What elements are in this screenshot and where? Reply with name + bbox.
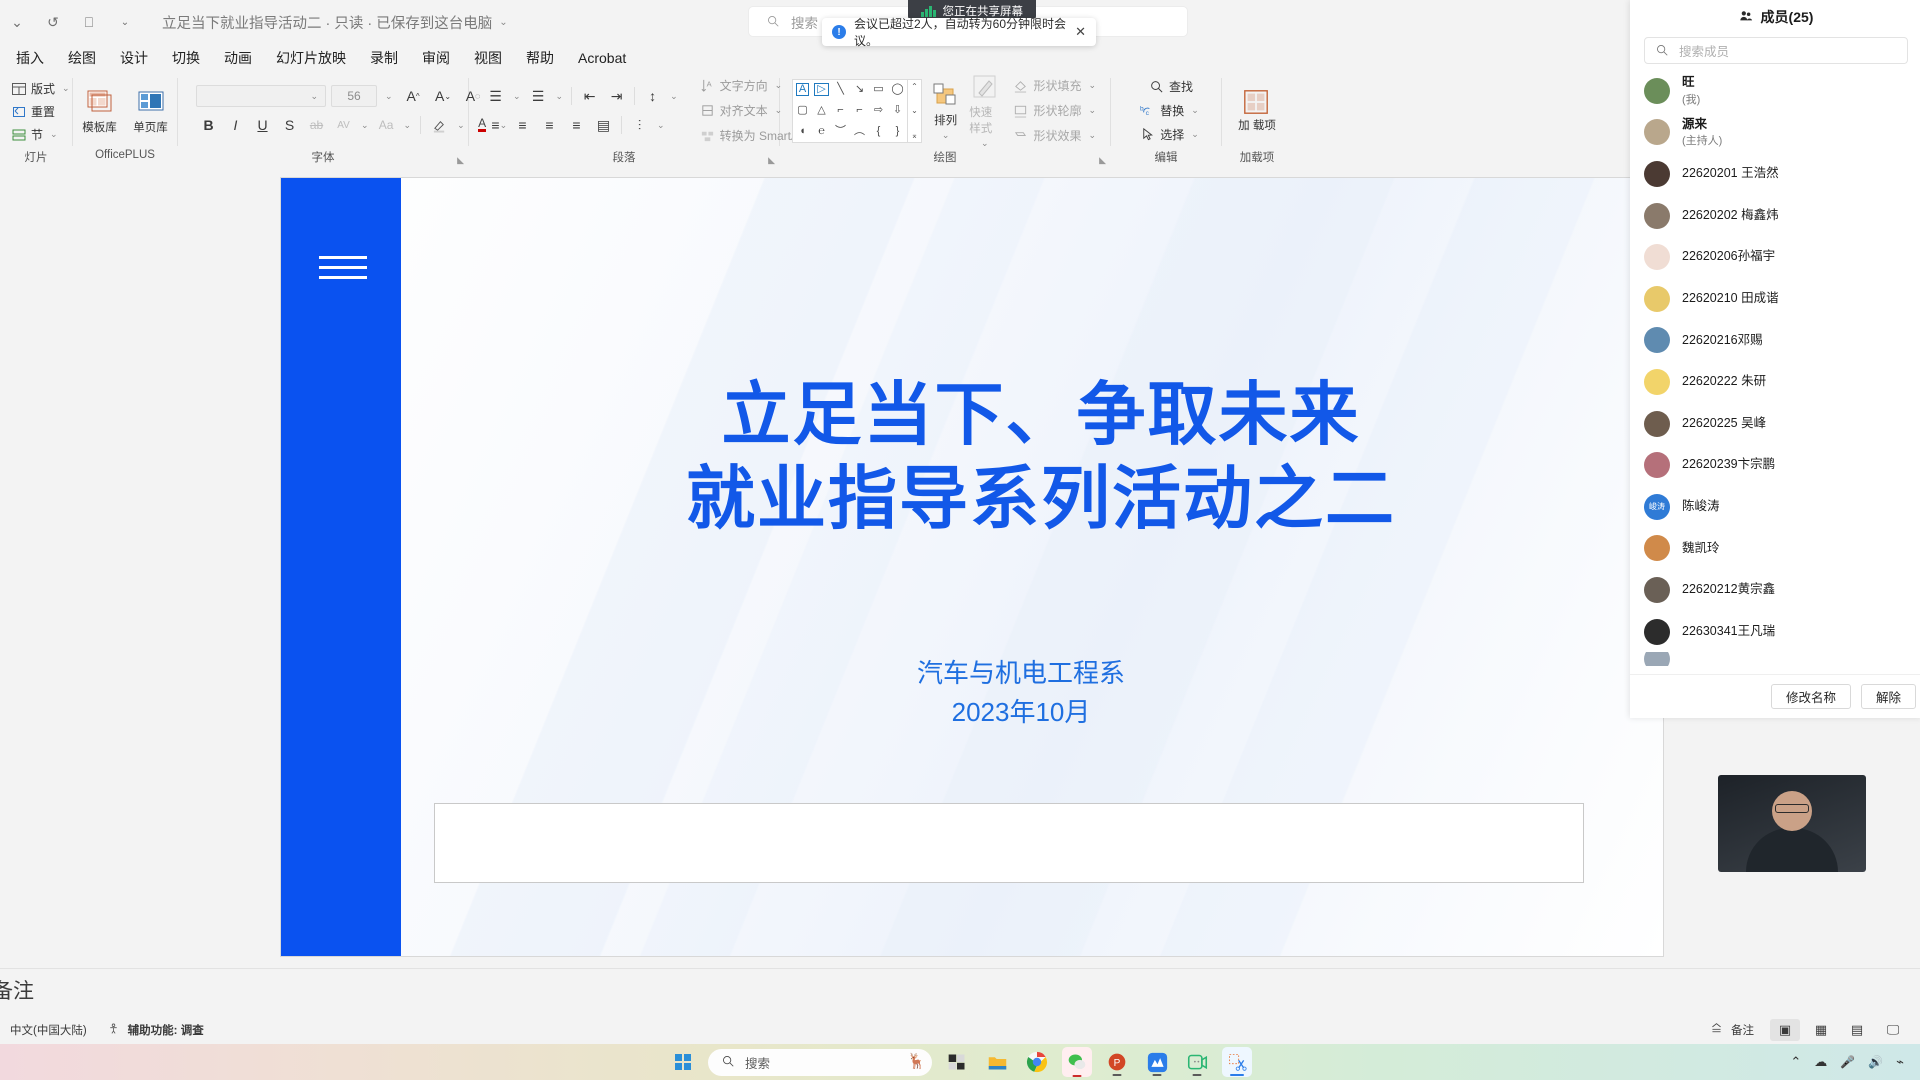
taskbar-center: 搜索 🦌 P — [668, 1047, 1252, 1077]
chevron-down-icon[interactable]: ⌄ — [1188, 105, 1202, 116]
volume-icon[interactable]: 🔊 — [1868, 1055, 1883, 1069]
info-icon: ! — [832, 25, 846, 39]
replace-label: 替换 — [1160, 102, 1184, 119]
list-item[interactable]: 旺 (我) — [1644, 70, 1920, 112]
chevron-down-icon[interactable]: ⌄ — [510, 91, 524, 102]
chrome-icon[interactable] — [1022, 1047, 1052, 1077]
ribbon-group-slide: 版式 ⌄ 重置 节 ⌄ 灯片 — [0, 72, 72, 168]
find-button[interactable]: 查找 — [1144, 76, 1198, 97]
shape-down-arrow-icon[interactable]: ⇩ — [893, 105, 902, 116]
avatar — [1644, 119, 1670, 145]
section-button[interactable]: 节 ⌄ — [6, 124, 66, 145]
slide-accent-bar — [281, 178, 401, 956]
meitu-icon[interactable] — [1142, 1047, 1172, 1077]
tab-design[interactable]: 设计 — [108, 45, 160, 71]
list-item[interactable]: 22620206孙福宇 — [1644, 236, 1920, 278]
participant-name: 魏凯玲 — [1682, 541, 1720, 557]
align-text-icon — [700, 103, 716, 119]
avatar — [1644, 411, 1670, 437]
chevron-down-icon[interactable]: ⌄ — [1085, 80, 1099, 91]
chevron-down-icon[interactable]: ⌄ — [307, 91, 321, 102]
quick-styles-icon — [970, 72, 1000, 102]
smartart-icon — [700, 128, 716, 144]
scroll-up-icon[interactable]: ⌃ — [911, 82, 918, 91]
avatar — [1644, 619, 1670, 645]
tab-transitions[interactable]: 切换 — [160, 45, 212, 71]
list-item[interactable]: 22620201 王浩然 — [1644, 153, 1920, 195]
tab-review[interactable]: 审阅 — [410, 45, 462, 71]
slide-sorter-view-button[interactable]: ▦ — [1806, 1019, 1836, 1041]
ribbon-group-addins: 加 载项 加载项 — [1222, 72, 1292, 168]
ribbon-group-drawing: A ▷ ╲ ↘ ▭ ◯ ▢ △ ⌐ ⌐ ⇨ ⇩ ◖ ℮ ︶ — [780, 72, 1110, 168]
list-item[interactable]: 22620210 田成谐 — [1644, 278, 1920, 320]
people-icon — [1739, 9, 1755, 25]
ribbon-group-editing: 查找 bc 替换 ⌄ 选择 ⌄ 编辑 — [1111, 72, 1221, 168]
shape-arrow-label-icon[interactable]: ▷ — [814, 83, 828, 96]
template-library-button[interactable]: 模板库 — [79, 87, 120, 135]
chevron-down-icon[interactable]: ⌄ — [978, 138, 992, 149]
participant-name: 22630341王凡瑞 — [1682, 624, 1775, 640]
start-icon[interactable] — [668, 1047, 698, 1077]
widget-animal-icon[interactable]: 🦌 — [907, 1052, 926, 1070]
network-icon[interactable]: ⌁ — [1896, 1054, 1904, 1070]
paragraph-dialog-launcher[interactable]: ◣ — [768, 155, 775, 166]
participant-name: 22620225 吴峰 — [1682, 416, 1766, 432]
list-item[interactable]: 22620225 吴峰 — [1644, 403, 1920, 445]
glasses-icon — [1775, 804, 1809, 813]
participant-name: 22620210 田成谐 — [1682, 291, 1779, 307]
layout-label: 版式 — [31, 80, 55, 97]
list-item[interactable]: 22620216邓赐 — [1644, 320, 1920, 362]
customize-qat-icon[interactable]: ⌄ — [114, 11, 136, 33]
notes-pane[interactable]: 备注 — [0, 968, 1920, 1016]
list-item[interactable]: 22630341王凡瑞 — [1644, 611, 1920, 653]
group-label-addins: 加载项 — [1228, 149, 1286, 168]
avatar — [1644, 161, 1670, 187]
meeting-search-placeholder: 搜索 — [791, 12, 818, 32]
chevron-down-icon[interactable]: ⌄ — [654, 120, 668, 131]
addins-button-label: 加 载项 — [1238, 120, 1276, 133]
avatar — [1644, 78, 1670, 104]
participants-search-input[interactable]: 搜索成员 — [1644, 37, 1908, 64]
list-item[interactable]: 22620212黄宗鑫 — [1644, 569, 1920, 611]
show-hidden-icons-icon[interactable]: ⌃ — [1790, 1054, 1801, 1070]
slide-background: 立足当下、争取未来 就业指导系列活动之二 汽车与机电工程系 2023年10月 — [281, 178, 1663, 956]
chevron-down-icon[interactable]: ⌄ — [553, 91, 567, 102]
line-spacing-icon[interactable]: ↕ — [640, 84, 665, 108]
font-size-value: 56 — [347, 89, 360, 103]
search-icon — [721, 1054, 737, 1070]
tencent-meeting-icon[interactable] — [1182, 1047, 1212, 1077]
font-name-input[interactable]: ⌄ — [196, 85, 326, 107]
chevron-down-icon[interactable]: ⌄ — [59, 83, 73, 94]
list-item[interactable]: 魏凯玲 — [1644, 528, 1920, 570]
participants-footer: 修改名称 解除 — [1630, 674, 1920, 718]
participant-name: 22620202 梅鑫炜 — [1682, 208, 1779, 224]
tab-slideshow[interactable]: 幻灯片放映 — [264, 45, 358, 71]
single-page-library-button[interactable]: 单页库 — [130, 87, 171, 135]
list-item[interactable]: 峻涛 陈峻涛 — [1644, 486, 1920, 528]
microphone-icon[interactable]: 🎤 — [1840, 1055, 1855, 1069]
template-library-label: 模板库 — [82, 119, 117, 135]
select-button[interactable]: 选择 ⌄ — [1135, 124, 1207, 145]
shapes-scrollbar[interactable]: ⌃ ⌄ ⌅ — [908, 79, 922, 143]
document-title[interactable]: 立足当下就业指导活动二 · 只读 · 已保存到这台电脑 ⌄ — [162, 12, 508, 33]
avatar — [1644, 244, 1670, 270]
shape-left-brace-icon[interactable]: { — [877, 126, 881, 137]
participants-panel: 成员(25) 搜索成员 旺 (我) 源来 (主持人) 22620201 王浩然 … — [1630, 0, 1920, 718]
chevron-down-icon[interactable]: ⌄ — [499, 17, 507, 28]
shape-pie-icon[interactable]: ◖ — [799, 126, 806, 137]
numbered-list-icon[interactable]: ☰ — [526, 84, 551, 108]
text-highlight-icon[interactable] — [427, 113, 452, 137]
tab-view[interactable]: 视图 — [462, 45, 514, 71]
slide-title-line2: 就业指导系列活动之二 — [441, 457, 1641, 541]
shape-effects-button[interactable]: 形状效果 ⌄ — [1008, 125, 1104, 146]
addins-icon — [1242, 88, 1272, 118]
shape-elbow-icon[interactable]: ⌐ — [837, 105, 843, 116]
chevron-down-icon[interactable]: ⌄ — [1085, 130, 1099, 141]
search-icon — [1149, 79, 1165, 95]
participant-role: (我) — [1682, 94, 1700, 106]
shape-outline-button[interactable]: 形状轮廓 ⌄ — [1008, 100, 1104, 121]
self-video-thumbnail[interactable] — [1718, 775, 1866, 872]
taskbar-search-placeholder: 搜索 — [745, 1053, 770, 1072]
avatar — [1644, 452, 1670, 478]
chevron-down-icon[interactable]: ⌄ — [939, 130, 953, 141]
participant-name: 22620206孙福宇 — [1682, 249, 1775, 265]
scroll-down-icon[interactable]: ⌄ — [911, 106, 918, 115]
align-left-icon[interactable]: ≡ — [483, 113, 508, 137]
quick-styles-label: 快速样式 — [969, 104, 1000, 136]
reset-button[interactable]: 重置 — [6, 101, 60, 122]
single-page-library-icon — [136, 87, 166, 117]
chevron-down-icon[interactable]: ⌄ — [454, 120, 468, 131]
participant-name: 旺 — [1682, 75, 1700, 91]
shape-effects-label: 形状效果 — [1033, 127, 1081, 144]
notes-icon — [1710, 1022, 1726, 1038]
increase-font-size-button[interactable]: A^ — [401, 84, 426, 108]
meeting-notification: ! 会议已超过2人，自动转为60分钟限时会议。 ✕ — [822, 18, 1096, 46]
accessibility-icon — [107, 1022, 123, 1038]
shape-elbow2-icon[interactable]: ⌐ — [856, 105, 862, 116]
group-label-slide: 灯片 — [6, 149, 66, 168]
ribbon-group-font: ⌄ 56 ⌄ A^ A⌄ A◌ B I U S ab AV — [178, 72, 468, 168]
increase-indent-icon[interactable]: ⇥ — [604, 84, 629, 108]
select-icon — [1140, 127, 1156, 143]
tab-draw[interactable]: 绘图 — [56, 45, 108, 71]
participant-name: 22620201 王浩然 — [1682, 166, 1779, 182]
file-explorer-icon[interactable] — [982, 1047, 1012, 1077]
notes-button-label: 备注 — [1731, 1022, 1754, 1038]
document-title-text: 立足当下就业指导活动二 · 只读 · 已保存到这台电脑 — [162, 12, 492, 33]
participant-name: 22620239卞宗鹏 — [1682, 457, 1775, 473]
select-label: 选择 — [1160, 126, 1184, 143]
participants-search-placeholder: 搜索成员 — [1679, 41, 1729, 60]
shapes-more-icon[interactable]: ⌅ — [911, 131, 918, 140]
wechat-icon[interactable] — [1062, 1047, 1092, 1077]
shape-effects-icon — [1013, 128, 1029, 144]
status-language-text: 中文(中国大陆) — [10, 1022, 87, 1038]
system-tray: ⌃ ☁ 🎤 🔊 ⌁ — [1790, 1044, 1914, 1080]
status-accessibility[interactable]: 辅助功能: 调查 — [97, 1022, 214, 1038]
chevron-down-icon[interactable]: ⌄ — [382, 91, 396, 102]
reset-label: 重置 — [31, 103, 55, 120]
chevron-down-icon[interactable]: ⌄ — [47, 129, 61, 140]
italic-button[interactable]: I — [223, 113, 248, 137]
avatar — [1644, 535, 1670, 561]
layout-icon — [11, 81, 27, 97]
status-accessibility-text: 辅助功能: 调查 — [128, 1022, 204, 1038]
participant-name: 22620212黄宗鑫 — [1682, 582, 1775, 598]
justify-icon[interactable]: ≡ — [564, 113, 589, 137]
text-direction-icon: A — [700, 78, 716, 94]
tab-acrobat[interactable]: Acrobat — [566, 47, 638, 69]
powerpoint-icon[interactable]: P — [1102, 1047, 1132, 1077]
participant-role: (主持人) — [1682, 135, 1722, 147]
decrease-font-size-button[interactable]: A⌄ — [431, 84, 456, 108]
slide-logo-icon — [319, 256, 367, 286]
ribbon-group-paragraph: ☰⌄ ☰⌄ ⇤ ⇥ ↕⌄ ≡ ≡ ≡ ≡ ▤ — [469, 72, 779, 168]
shape-triangle-icon[interactable]: △ — [817, 105, 825, 116]
find-label: 查找 — [1169, 78, 1193, 95]
list-item[interactable]: 源来 (主持人) — [1644, 112, 1920, 154]
columns-icon[interactable]: ⫶ — [627, 113, 652, 137]
avatar — [1644, 286, 1670, 312]
shape-fill-button[interactable]: 形状填充 ⌄ — [1008, 75, 1104, 96]
text-shadow-button[interactable]: S — [277, 113, 302, 137]
slide-title[interactable]: 立足当下、争取未来 就业指导系列活动之二 — [441, 373, 1641, 541]
taskbar-search-input[interactable]: 搜索 🦌 — [708, 1049, 932, 1076]
font-size-input[interactable]: 56 — [331, 85, 377, 107]
bold-button[interactable]: B — [196, 113, 221, 137]
arrange-icon — [931, 80, 961, 110]
bullet-list-icon[interactable]: ☰ — [483, 84, 508, 108]
taskbar: 搜索 🦌 P ⌃ — [0, 1044, 1920, 1080]
participant-name: 源来 — [1682, 117, 1722, 133]
text-direction-label: 文字方向 — [720, 77, 768, 94]
status-bar: 中文(中国大陆) 辅助功能: 调查 备注 ▣ ▦ ▤ 🖵 — [0, 1016, 1920, 1044]
task-view-icon[interactable] — [942, 1047, 972, 1077]
participants-title: 成员(25) — [1761, 7, 1814, 27]
arrange-button[interactable]: 排列 ⌄ — [930, 80, 961, 141]
slideshow-view-button[interactable]: 🖵 — [1878, 1019, 1908, 1041]
chevron-down-icon[interactable]: ⌄ — [1085, 105, 1099, 116]
chevron-down-icon[interactable]: ⌄ — [1188, 129, 1202, 140]
svg-text:c: c — [1146, 110, 1150, 117]
shape-arrow-icon[interactable]: ↘ — [855, 84, 864, 95]
shape-rounded-rect-icon[interactable]: ▢ — [797, 105, 807, 116]
shape-rect-icon[interactable]: ▭ — [873, 84, 883, 95]
autosave-chevron-icon[interactable]: ⌄ — [6, 11, 28, 33]
layout-button[interactable]: 版式 ⌄ — [6, 78, 78, 99]
group-label-drawing: 绘图 — [786, 149, 1104, 168]
slide-subtitle-line2: 2023年10月 — [441, 693, 1601, 732]
section-label: 节 — [31, 126, 43, 143]
participants-header: 成员(25) — [1630, 0, 1920, 33]
status-language[interactable]: 中文(中国大陆) — [0, 1022, 97, 1038]
single-page-library-label: 单页库 — [133, 119, 168, 135]
arrange-label: 排列 — [934, 112, 957, 128]
drawing-dialog-launcher[interactable]: ◣ — [1099, 155, 1106, 166]
shape-oval-icon[interactable]: ◯ — [891, 84, 903, 95]
replace-icon: bc — [1140, 103, 1156, 119]
present-icon[interactable]: ⎕ — [78, 11, 100, 33]
normal-view-button[interactable]: ▣ — [1770, 1019, 1800, 1041]
avatar — [1644, 327, 1670, 353]
slide-title-line1: 立足当下、争取未来 — [441, 373, 1641, 457]
quick-styles-button[interactable]: 快速样式 ⌄ — [969, 72, 1000, 149]
video-body — [1746, 828, 1838, 872]
list-item[interactable]: 22620239卞宗鹏 — [1644, 444, 1920, 486]
align-text-label: 对齐文本 — [720, 102, 768, 119]
align-center-icon[interactable]: ≡ — [510, 113, 535, 137]
section-icon — [11, 127, 27, 143]
decrease-indent-icon[interactable]: ⇤ — [577, 84, 602, 108]
template-library-icon — [85, 87, 115, 117]
shape-scribble-icon[interactable]: ℮ — [818, 126, 825, 137]
participant-name: 22620216邓赐 — [1682, 333, 1763, 349]
shape-arc-icon[interactable]: ︵ — [854, 126, 865, 137]
tab-record[interactable]: 录制 — [358, 45, 410, 71]
character-spacing-button[interactable]: AV — [331, 113, 356, 137]
avatar — [1644, 203, 1670, 229]
cloud-icon[interactable]: ☁ — [1814, 1054, 1827, 1070]
addins-button[interactable]: 加 载项 — [1230, 88, 1284, 133]
avatar — [1644, 369, 1670, 395]
shape-fill-icon — [1013, 78, 1029, 94]
close-icon[interactable]: ✕ — [1075, 24, 1086, 40]
notes-pane-label: 备注 — [0, 975, 34, 1005]
notes-toggle-button[interactable]: 备注 — [1700, 1022, 1764, 1038]
tab-animations[interactable]: 动画 — [212, 45, 264, 71]
shape-outline-label: 形状轮廓 — [1033, 102, 1081, 119]
font-dialog-launcher[interactable]: ◣ — [457, 155, 464, 166]
group-label-editing: 编辑 — [1117, 149, 1215, 168]
search-icon — [1655, 43, 1671, 59]
shapes-gallery[interactable]: A ▷ ╲ ↘ ▭ ◯ ▢ △ ⌐ ⌐ ⇨ ⇩ ◖ ℮ ︶ — [792, 79, 922, 143]
avatar: 峻涛 — [1644, 494, 1670, 520]
change-case-button[interactable]: Aa — [374, 113, 399, 137]
chevron-down-icon[interactable]: ⌄ — [667, 91, 681, 102]
svg-text:P: P — [1114, 1058, 1121, 1069]
quick-access-toolbar[interactable]: ⌄ ↺ ⎕ ⌄ — [0, 11, 136, 33]
snipaste-icon[interactable] — [1222, 1047, 1252, 1077]
shape-line-icon[interactable]: ╲ — [837, 84, 844, 95]
notification-text: 会议已超过2人，自动转为60分钟限时会议。 — [854, 15, 1067, 49]
ribbon-group-officeplus: 模板库 单页库 OfficePLUS — [73, 72, 177, 168]
svg-text:A: A — [706, 79, 711, 88]
group-label-officeplus: OfficePLUS — [79, 149, 171, 168]
slide-subtitle[interactable]: 汽车与机电工程系 2023年10月 — [441, 654, 1601, 732]
slide-canvas[interactable]: 立足当下、争取未来 就业指导系列活动之二 汽车与机电工程系 2023年10月 — [281, 178, 1663, 956]
tab-insert[interactable]: 插入 — [4, 45, 56, 71]
unmute-all-button[interactable]: 解除 — [1861, 684, 1916, 709]
shape-textbox-icon[interactable]: A — [796, 83, 809, 96]
list-item[interactable]: 22620222 朱研 — [1644, 361, 1920, 403]
participant-name: 陈峻涛 — [1682, 499, 1720, 515]
undo-icon[interactable]: ↺ — [42, 11, 64, 33]
slide-subtitle-line1: 汽车与机电工程系 — [441, 654, 1601, 693]
shape-outline-icon — [1013, 103, 1029, 119]
chevron-down-icon[interactable]: ⌄ — [358, 120, 372, 131]
shape-right-arrow-icon[interactable]: ⇨ — [874, 105, 883, 116]
search-icon — [766, 14, 782, 30]
reset-icon — [11, 104, 27, 120]
rename-button[interactable]: 修改名称 — [1771, 684, 1851, 709]
participant-name: 22620222 朱研 — [1682, 374, 1766, 390]
underline-button[interactable]: U — [250, 113, 275, 137]
strikethrough-button[interactable]: ab — [304, 113, 329, 137]
align-right-icon[interactable]: ≡ — [537, 113, 562, 137]
slide-placeholder-box[interactable] — [434, 803, 1584, 883]
avatar — [1644, 652, 1670, 666]
shape-fill-label: 形状填充 — [1033, 77, 1081, 94]
tab-help[interactable]: 帮助 — [514, 45, 566, 71]
reading-view-button[interactable]: ▤ — [1842, 1019, 1872, 1041]
replace-button[interactable]: bc 替换 ⌄ — [1135, 100, 1207, 121]
shape-curve-icon[interactable]: ︶ — [835, 126, 846, 137]
list-item[interactable]: 22620202 梅鑫炜 — [1644, 195, 1920, 237]
group-label-paragraph: 段落 — [475, 149, 773, 168]
avatar — [1644, 577, 1670, 603]
chevron-down-icon[interactable]: ⌄ — [401, 120, 415, 131]
shape-right-brace-icon[interactable]: } — [896, 126, 900, 137]
distribute-icon[interactable]: ▤ — [591, 113, 616, 137]
participants-list[interactable]: 旺 (我) 源来 (主持人) 22620201 王浩然 22620202 梅鑫炜… — [1630, 70, 1920, 674]
shapes-grid[interactable]: A ▷ ╲ ↘ ▭ ◯ ▢ △ ⌐ ⌐ ⇨ ⇩ ◖ ℮ ︶ — [792, 79, 908, 143]
list-item-partial[interactable] — [1644, 652, 1920, 666]
group-label-font: 字体 — [184, 149, 462, 168]
